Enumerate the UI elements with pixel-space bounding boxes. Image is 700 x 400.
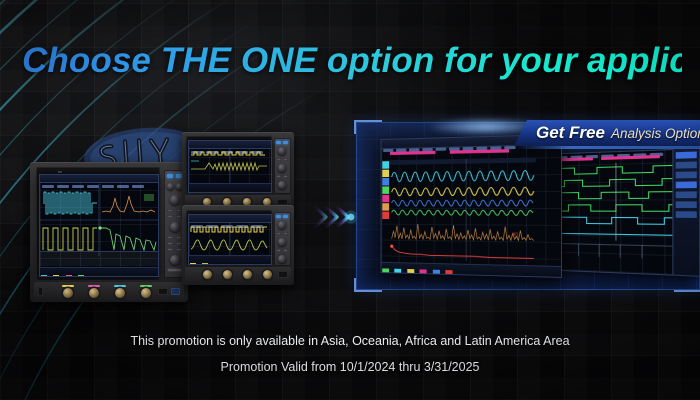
channel-3-bnc[interactable] (243, 270, 252, 279)
analysis-display-front: M1 (381, 134, 562, 278)
channel-1-button[interactable] (276, 232, 281, 235)
trigger-menu-button[interactable] (167, 236, 173, 239)
run-stop-button[interactable] (167, 174, 173, 178)
channel-badge-cyan[interactable] (382, 161, 389, 169)
scope-front-io-panel (34, 282, 184, 300)
scope-softkey-bar (189, 183, 271, 192)
svg-text:M1: M1 (513, 232, 519, 238)
channel-1-button[interactable] (167, 209, 173, 212)
channel-badge-yellow[interactable] (382, 170, 389, 178)
panel-corner-bottom-right (674, 278, 700, 292)
legal-line-2: Promotion Valid from 10/1/2024 thru 3/31… (0, 360, 700, 374)
scope-softkey-bar (40, 267, 158, 276)
usb-port[interactable] (171, 288, 180, 295)
vertical-scale-knob[interactable] (278, 238, 286, 246)
screen-sidebar[interactable] (672, 148, 699, 276)
channel-3-marker (114, 285, 126, 287)
channel-1-bnc[interactable] (63, 288, 73, 298)
default-setup-button[interactable] (167, 268, 182, 272)
scope-waveform-area (189, 149, 271, 185)
secondary-oscilloscope-lower (182, 205, 294, 285)
trigger-level-knob[interactable] (170, 255, 180, 265)
panel-corner-top-left (354, 120, 382, 134)
channel-badge-column[interactable] (381, 160, 390, 250)
promo-badge-content: Get FreeAnalysis Option (514, 123, 700, 143)
channel-2-button[interactable] (283, 232, 288, 235)
promo-badge-primary-text: Get Free (536, 123, 605, 142)
multipurpose-knob[interactable] (278, 147, 286, 155)
trigger-level-knob[interactable] (278, 255, 286, 263)
promotional-banner: Choose THE ONE option for your applicati… (0, 0, 700, 400)
promo-badge: Get FreeAnalysis Option (514, 120, 700, 146)
scope-control-panel[interactable] (274, 138, 291, 194)
channel-badge-orange[interactable] (382, 203, 389, 210)
scope-measurement-bar (40, 251, 158, 266)
scope-control-panel[interactable] (274, 212, 291, 266)
power-button[interactable] (38, 287, 43, 296)
scope-front-io-panel (185, 267, 291, 282)
utility-button[interactable] (283, 249, 288, 252)
secondary-oscilloscope-upper (182, 132, 294, 210)
channel-4-marker (140, 285, 152, 287)
vertical-scale-knob[interactable] (278, 164, 286, 172)
measure-button[interactable] (276, 175, 281, 178)
channel-1-button[interactable] (276, 158, 281, 161)
legal-line-1: This promotion is only available in Asia… (0, 334, 700, 348)
single-button[interactable] (283, 215, 288, 218)
page-title: Choose THE ONE option for your applicati… (22, 36, 682, 86)
channel-4-bnc[interactable] (141, 288, 151, 298)
primary-oscilloscope: ▭ (30, 162, 188, 302)
channel-1-marker (62, 285, 74, 287)
panel-corner-bottom-left (354, 278, 382, 292)
channel-2-marker (88, 285, 100, 287)
promo-badge-secondary-text: Analysis Option (611, 126, 700, 141)
single-button[interactable] (283, 141, 288, 144)
analysis-display-rear (538, 139, 700, 277)
cursor-button[interactable] (283, 175, 288, 178)
channel-2-bnc[interactable] (223, 270, 232, 279)
save-recall-button[interactable] (167, 248, 173, 251)
run-stop-button[interactable] (276, 215, 281, 218)
channel-badge-green[interactable] (382, 186, 389, 194)
channel-badge-magenta[interactable] (382, 195, 389, 202)
primary-scope-screen (39, 174, 159, 277)
channel-3-button[interactable] (167, 215, 173, 218)
measure-button[interactable] (167, 242, 173, 245)
channel-3-bnc[interactable] (115, 288, 125, 298)
trigger-menu-button[interactable] (276, 249, 281, 252)
vertical-scale-knob[interactable] (170, 222, 180, 232)
analysis-waveform-area: M1 (381, 145, 561, 267)
channel-badge-red[interactable] (382, 212, 389, 219)
aux-port[interactable] (158, 288, 168, 295)
channel-2-button[interactable] (283, 158, 288, 161)
channel-4-bnc[interactable] (263, 270, 272, 279)
scope-softkey-bar (189, 255, 271, 264)
upper-scope-screen (188, 140, 272, 193)
promo-badge-underline (514, 146, 700, 149)
horizontal-scale-knob[interactable] (167, 183, 174, 190)
channel-1-bnc[interactable] (203, 270, 212, 279)
multipurpose-knob[interactable] (170, 195, 180, 205)
usb-port[interactable] (278, 271, 288, 278)
lower-scope-screen (188, 214, 272, 265)
channel-badge-blue[interactable] (382, 178, 389, 186)
multipurpose-knob[interactable] (278, 221, 286, 229)
scope-waveform-area (189, 223, 271, 257)
trigger-level-knob[interactable] (278, 181, 286, 189)
channel-2-bnc[interactable] (89, 288, 99, 298)
transition-arrow-icon (310, 200, 362, 234)
run-stop-button[interactable] (276, 141, 281, 144)
